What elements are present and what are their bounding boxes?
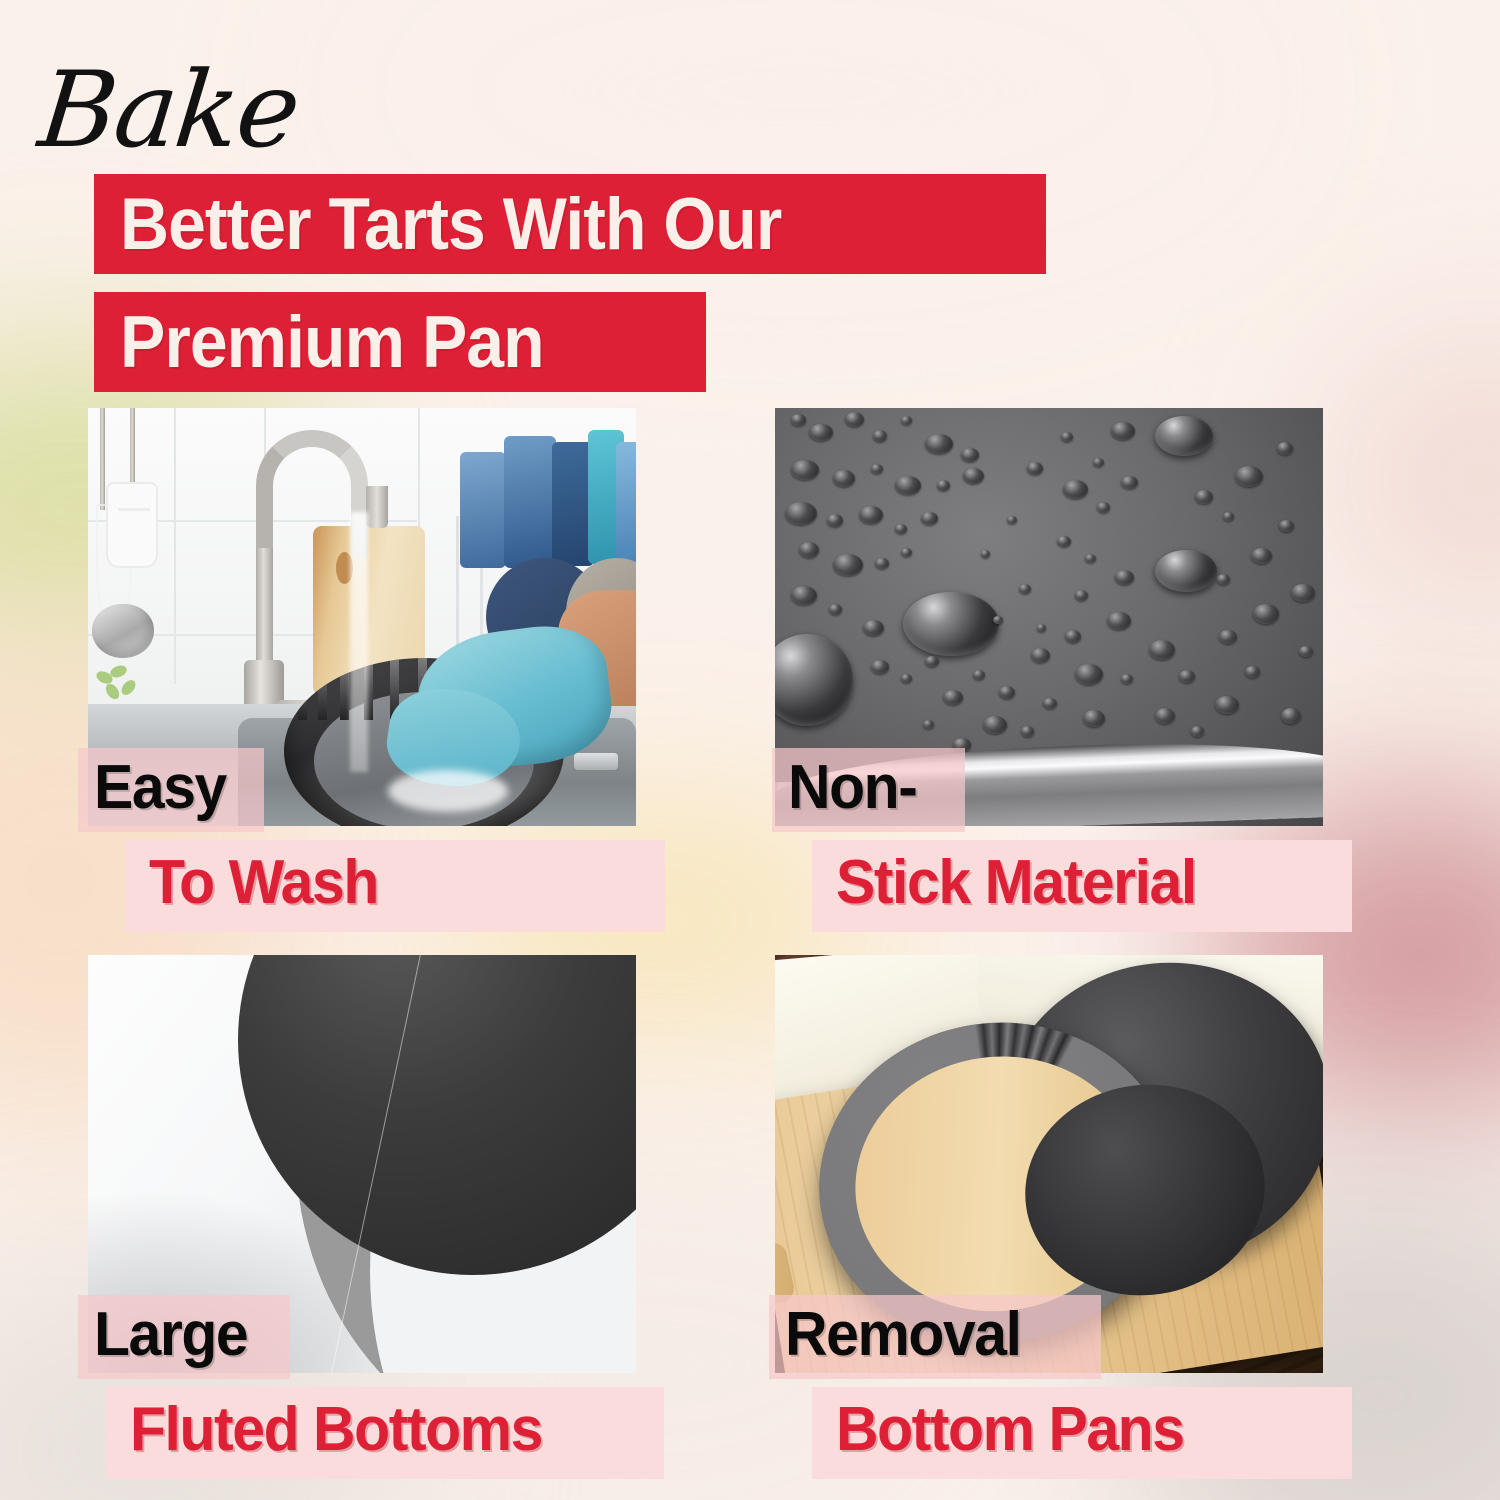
label-text: Easy (94, 757, 226, 819)
feature-label-top-non: Non- (772, 748, 965, 832)
feature-card-removable-bottom-pans[interactable]: Removal Bottom Pans (775, 955, 1323, 1455)
feature-card-non-stick-material[interactable]: Non- Stick Material (775, 408, 1323, 908)
label-text: Removal (785, 1304, 1021, 1366)
label-text: Large (94, 1304, 247, 1366)
label-text: Fluted Bottoms (130, 1399, 542, 1461)
feature-card-easy-to-wash[interactable]: Easy To Wash (88, 408, 636, 908)
feature-label-top-removal: Removal (769, 1295, 1101, 1379)
label-text: Bottom Pans (836, 1399, 1184, 1461)
headline-text-line-2: Premium Pan (120, 306, 544, 379)
headline-text-line-1: Better Tarts With Our (120, 188, 781, 261)
label-text: To Wash (149, 852, 378, 914)
feature-label-top-easy: Easy (78, 748, 264, 832)
headline-band-line-1: Better Tarts With Our (94, 174, 1046, 274)
background-blob-rose-top (1330, 330, 1500, 630)
feature-label-bottom-to-wash: To Wash (125, 840, 665, 932)
feature-label-bottom-bottom-pans: Bottom Pans (812, 1387, 1352, 1479)
label-text: Non- (788, 757, 916, 819)
feature-card-large-fluted-bottoms[interactable]: Large Fluted Bottoms (88, 955, 636, 1455)
label-text: Stick Material (836, 852, 1196, 914)
feature-label-bottom-fluted-bottoms: Fluted Bottoms (106, 1387, 664, 1479)
script-word-bake: Bake (34, 58, 303, 163)
feature-label-top-large: Large (78, 1295, 290, 1379)
feature-label-bottom-stick-material: Stick Material (812, 840, 1352, 932)
headline-band-line-2: Premium Pan (94, 292, 706, 392)
